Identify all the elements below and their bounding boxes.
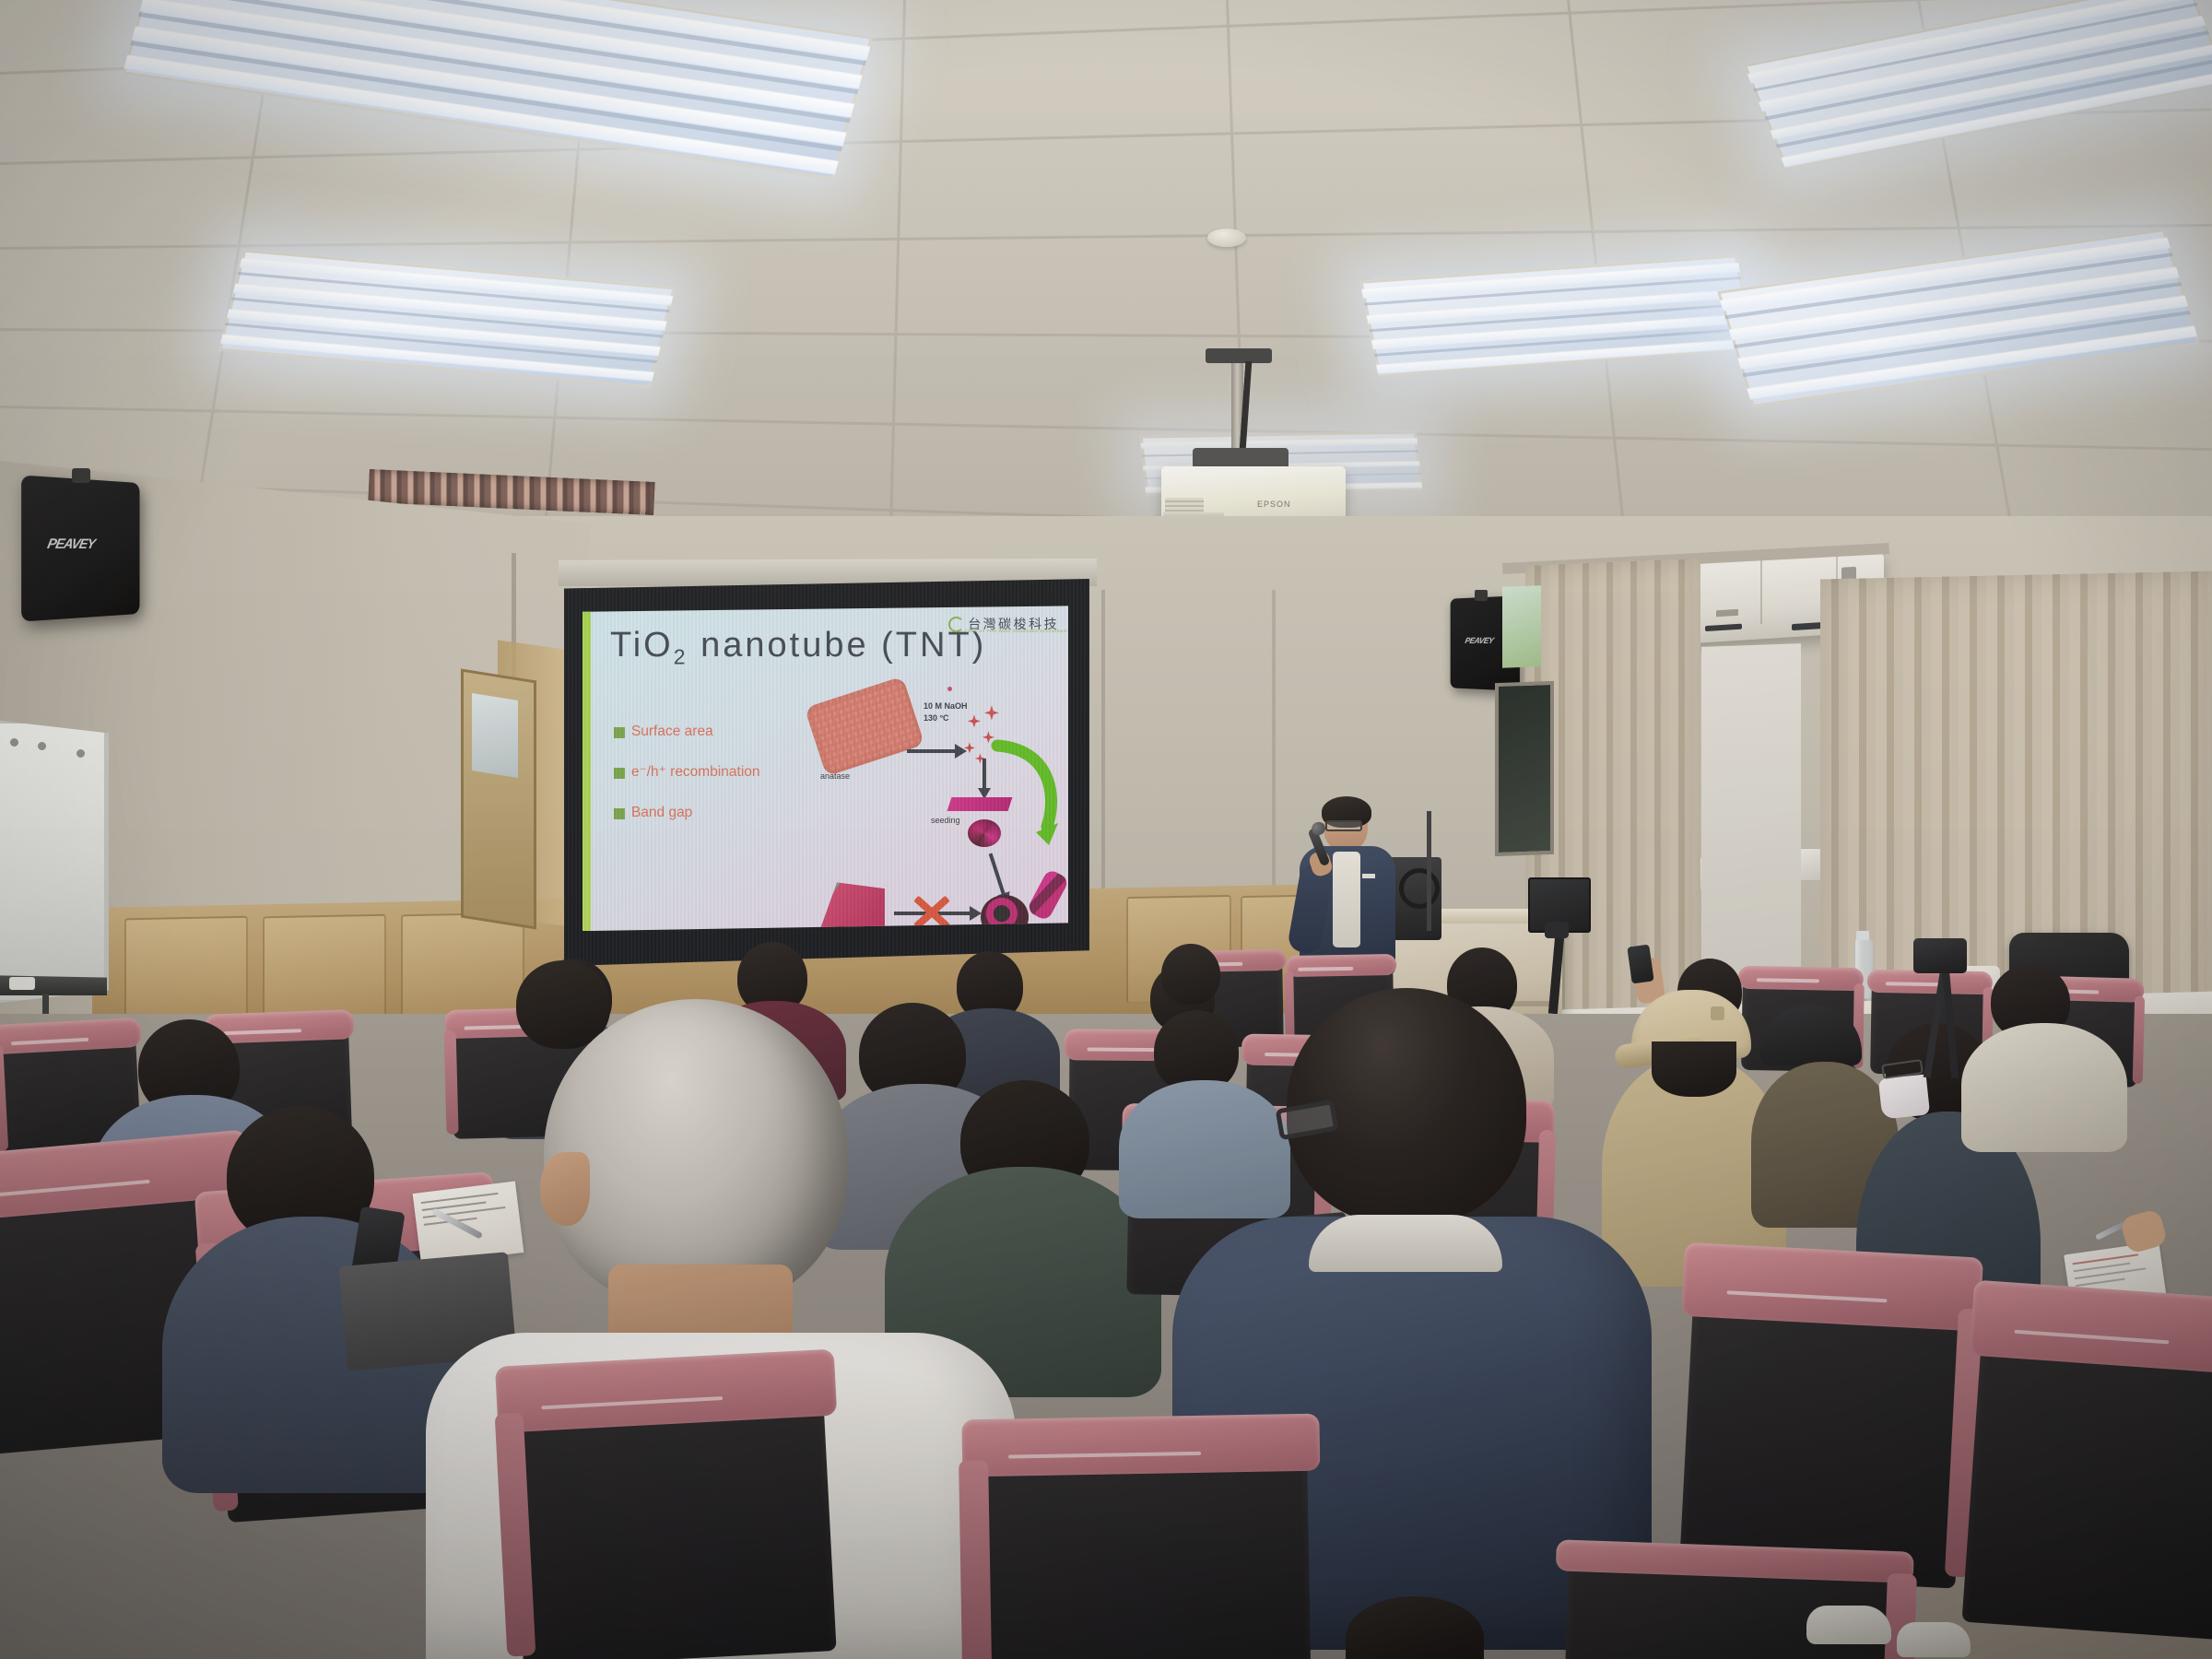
auditorium-seat[interactable] — [509, 1374, 836, 1659]
lecture-hall-photo: EPSON PEAVEY PEAVEY — [0, 0, 2212, 1659]
presentation-slide: TiO2 nanotube (TNT) 台灣碳梭科技 Clean Air Pur… — [582, 606, 1068, 931]
slide-title: TiO2 nanotube (TNT) — [610, 628, 986, 668]
seeding-label: seeding — [931, 816, 960, 826]
whiteboard-magnet-icon — [10, 738, 18, 747]
auditorium-seat[interactable] — [1679, 1270, 1971, 1588]
blocked-reaction-arrow-head — [970, 906, 982, 921]
crystal-fragment-dot — [947, 687, 952, 691]
naoh-label: 10 M NaOH — [924, 701, 968, 712]
mic-stand-pole — [1427, 811, 1431, 931]
whiteboard-magnet-icon — [76, 749, 85, 758]
audience-head — [1652, 1041, 1736, 1097]
x-mark-icon — [911, 891, 951, 931]
audience-head-grey-hair — [544, 999, 848, 1309]
speaker-brand-label: PEAVEY — [46, 536, 96, 553]
presenter-shirt — [1333, 852, 1360, 947]
smoke-detector-icon — [1207, 229, 1246, 247]
slide-bullet-list: Surface area e⁻/h⁺ recombination Band ga… — [614, 724, 826, 845]
ear — [540, 1152, 590, 1226]
ac-louver-vent — [1705, 624, 1742, 632]
green-recycle-arrow-icon — [981, 736, 1060, 860]
logo-tagline: Clean Air Pure Water Sustainable Environ… — [965, 629, 1067, 633]
crystal-fragment — [968, 714, 981, 727]
audience-torso — [1119, 1080, 1290, 1218]
slide-title-main: TiO — [610, 626, 674, 665]
ac-panel-seam — [1760, 559, 1762, 624]
slide-bullet-item: Band gap — [614, 805, 826, 820]
handout-paper — [413, 1181, 524, 1265]
speaker-brand-label: PEAVEY — [1465, 636, 1495, 645]
camera-body — [1913, 938, 1967, 973]
bullet-square-icon — [614, 808, 625, 819]
logo-leaf-icon — [948, 617, 964, 632]
door-window-pane — [472, 693, 518, 778]
cap-logo-icon — [1711, 1006, 1724, 1020]
auditorium-seat[interactable] — [975, 1435, 1311, 1659]
slide-bullet-item: e⁻/h⁺ recombination — [614, 764, 826, 780]
slide-bullet-item: Surface area — [614, 724, 826, 739]
wall-speaker-left: PEAVEY — [21, 475, 139, 621]
audience-head — [1161, 944, 1220, 1005]
speaker-right-mount-icon — [1475, 590, 1488, 601]
presenter-glasses-icon — [1325, 820, 1362, 831]
anatase-label: anatase — [820, 771, 850, 782]
shoe — [1806, 1606, 1891, 1644]
reaction-arrow-1-head — [955, 744, 967, 759]
monitor-arm-joint — [1545, 922, 1569, 938]
whiteboard — [0, 719, 109, 1005]
window-glass — [1502, 585, 1541, 667]
slide-accent-bar — [582, 606, 591, 931]
nanotube-end-view-graphic — [981, 895, 1029, 931]
nanotube-side-view-graphic — [1026, 868, 1068, 922]
bottle-cap-icon — [1856, 931, 1869, 940]
bullet-text: Surface area — [631, 724, 713, 739]
projector-brand-label: EPSON — [1257, 500, 1291, 509]
presenter-pocket-square — [1362, 874, 1375, 878]
whiteboard-eraser-icon — [9, 977, 35, 990]
face-mask — [1878, 1074, 1930, 1119]
collar — [1309, 1215, 1502, 1272]
company-logo: 台灣碳梭科技 Clean Air Pure Water Sustainable … — [948, 615, 1059, 633]
slide-title-subscript: 2 — [674, 645, 688, 669]
bullet-text: e⁻/h⁺ recombination — [631, 764, 760, 780]
projection-screen: TiO2 nanotube (TNT) 台灣碳梭科技 Clean Air Pur… — [564, 579, 1089, 966]
temperature-label: 130 °C — [924, 713, 949, 724]
whiteboard-magnet-icon — [38, 742, 46, 750]
reaction-arrow-1 — [907, 749, 957, 753]
bullet-text: Band gap — [631, 805, 692, 820]
projector-mount-plate — [1206, 348, 1272, 363]
bullet-square-icon — [614, 768, 625, 779]
speaker-left-mount-icon — [72, 468, 90, 483]
bullet-square-icon — [614, 727, 625, 738]
ac-brand-emblem-icon — [1716, 609, 1738, 618]
sodium-titanate-block-graphic — [818, 882, 885, 931]
window-frame — [1495, 681, 1554, 856]
shoe — [1897, 1622, 1971, 1657]
anatase-crystal-graphic — [805, 677, 925, 777]
auditorium-seat[interactable] — [1961, 1309, 2212, 1640]
cable-coil-icon — [1399, 868, 1440, 909]
audience-torso — [1961, 1023, 2127, 1152]
slide-title-rest: nanotube (TNT) — [688, 626, 987, 665]
crystal-fragment — [984, 705, 999, 720]
